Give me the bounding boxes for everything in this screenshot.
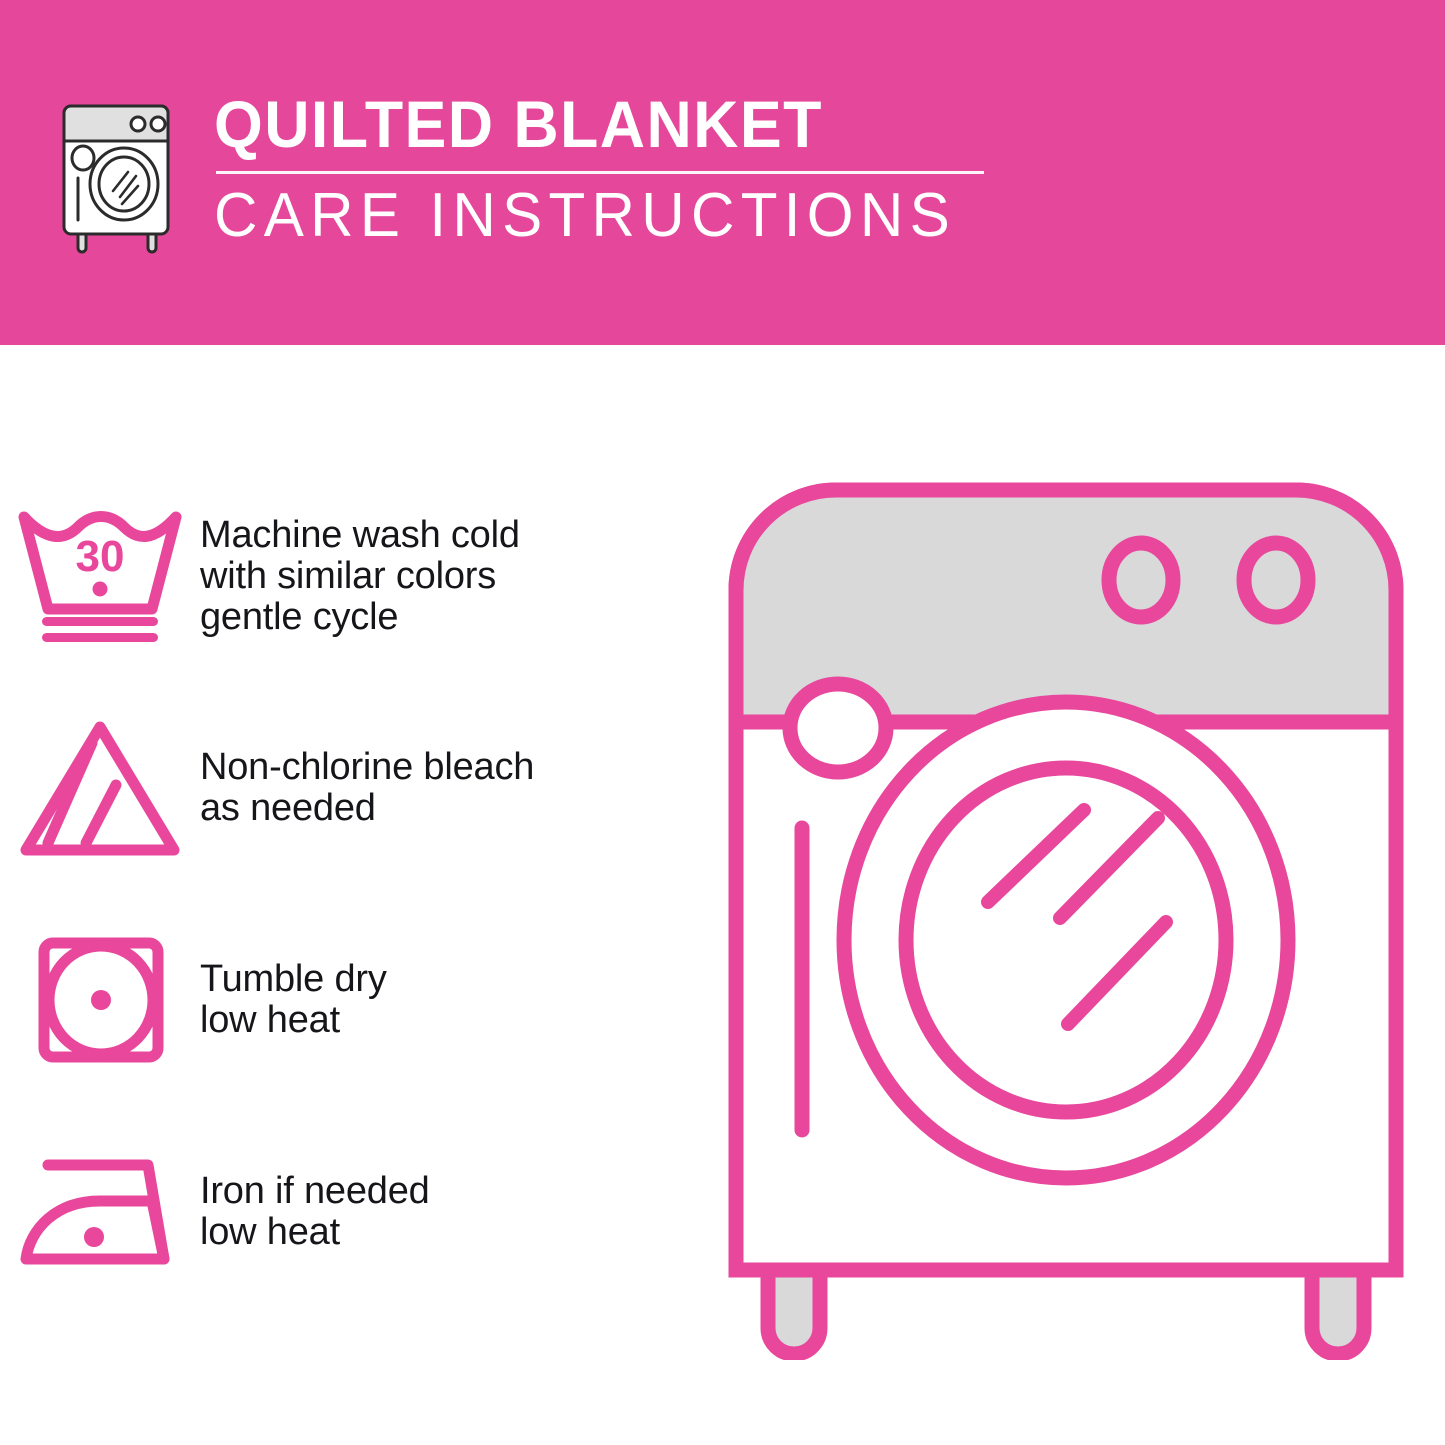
tumble-dry-low-heat-icon [0,915,200,1085]
care-line: gentle cycle [200,597,682,638]
wash-temperature-label: 30 [76,532,125,581]
care-line: with similar colors [200,556,682,597]
care-row-tumble-dry: Tumble dry low heat [0,894,690,1106]
washing-machine-icon [58,96,186,256]
title-divider [216,171,984,174]
care-line: as needed [200,788,682,829]
header-titles: QUILTED BLANKET CARE INSTRUCTIONS [214,88,1008,250]
care-line: Tumble dry [200,959,682,1000]
care-line: low heat [200,1212,682,1253]
care-line: Iron if needed [200,1171,682,1212]
care-line: Machine wash cold [200,515,682,556]
care-instruction-list: 30 Machine wash cold with similar colors… [0,470,690,1318]
care-label-iron: Iron if needed low heat [200,1171,690,1253]
care-instructions-infographic: QUILTED BLANKET CARE INSTRUCTIONS 30 [0,0,1445,1445]
header-content: QUILTED BLANKET CARE INSTRUCTIONS [58,92,1008,262]
care-label-bleach: Non-chlorine bleach as needed [200,747,690,829]
care-row-iron: Iron if needed low heat [0,1106,690,1318]
care-label-tumble-dry: Tumble dry low heat [200,959,690,1041]
header-band: QUILTED BLANKET CARE INSTRUCTIONS [0,0,1445,345]
care-row-bleach: Non-chlorine bleach as needed [0,682,690,894]
iron-low-heat-icon [0,1127,200,1297]
page-title: QUILTED BLANKET [214,88,968,160]
page-subtitle: CARE INSTRUCTIONS [214,182,984,250]
machine-wash-30-gentle-icon: 30 [0,491,200,661]
non-chlorine-bleach-triangle-icon [0,703,200,873]
care-line: Non-chlorine bleach [200,747,682,788]
care-label-machine-wash: Machine wash cold with similar colors ge… [200,515,690,638]
care-line: low heat [200,1000,682,1041]
care-row-machine-wash: 30 Machine wash cold with similar colors… [0,470,690,682]
washing-machine-illustration [716,470,1416,1360]
